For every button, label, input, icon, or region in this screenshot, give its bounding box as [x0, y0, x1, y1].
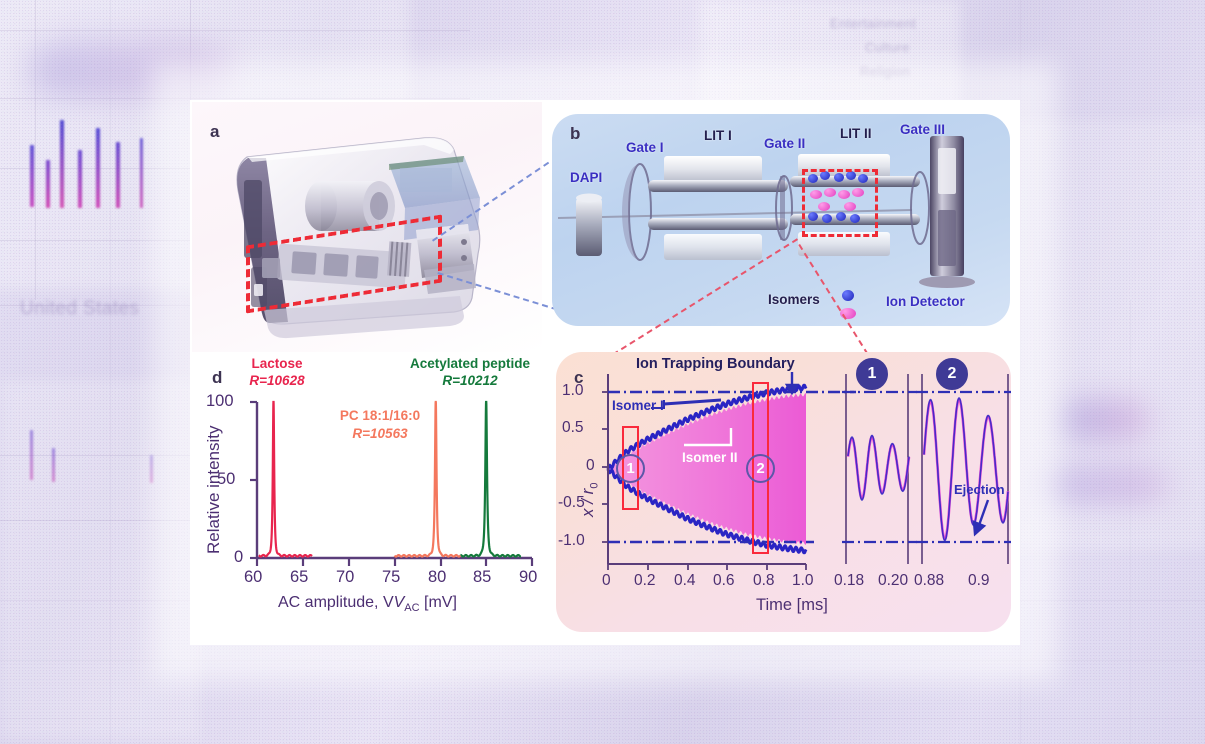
label-isomer-2: Isomer II — [682, 450, 738, 465]
panel-c-inset-1-plot — [842, 352, 917, 632]
panel-c-xtick-5: 1.0 — [792, 572, 814, 590]
panel-d-xlabel-unit: [mV] — [420, 594, 457, 611]
panel-c-xtick-2: 0.4 — [674, 572, 696, 590]
panel-c-ytick-3: 0 — [586, 457, 595, 475]
panel-a-letter: a — [210, 122, 219, 142]
panel-c-xtick-3: 0.6 — [713, 572, 735, 590]
panel-b-letter: b — [570, 124, 580, 144]
label-lit-2: LIT II — [840, 126, 872, 141]
inset-badge-2: 2 — [936, 358, 968, 390]
label-ejection: Ejection — [954, 482, 1005, 497]
panel-d-xtick-85: 85 — [473, 568, 491, 587]
panel-c-xtick-0: 0 — [602, 572, 611, 590]
panel-d-xtick-70: 70 — [336, 568, 354, 587]
panel-d-xlabel-sub: AC — [404, 602, 419, 614]
inset-1-xtick-1: 0.20 — [878, 572, 908, 590]
panel-d-xtick-75: 75 — [382, 568, 400, 587]
panel-d-xtick-65: 65 — [290, 568, 308, 587]
panel-c-ylabel-text: x / r — [578, 489, 597, 517]
panel-b: DAPI Gate I LIT I Gate II LIT II Gate II… — [552, 114, 1010, 326]
inset-2-xtick-1: 0.9 — [968, 572, 990, 590]
plot-marker-1: 1 — [616, 454, 645, 483]
panel-c-letter: c — [574, 368, 583, 388]
panel-d-letter: d — [212, 368, 222, 388]
inset-badge-1: 1 — [856, 358, 888, 390]
label-ion-detector: Ion Detector — [886, 294, 965, 309]
label-lit-1: LIT I — [704, 128, 732, 143]
panel-c-ylabel: x / r0 — [578, 483, 600, 517]
label-isomer-1: Isomer I — [612, 398, 664, 413]
panel-d-ytick-100: 100 — [206, 392, 234, 411]
panel-b-highlight-box — [802, 169, 878, 237]
panel-d-ylabel: Relative intensity — [204, 425, 224, 554]
label-isomers: Isomers — [768, 292, 820, 307]
panel-d-ytick-0: 0 — [234, 548, 243, 567]
panel-c-xlabel: Time [ms] — [756, 596, 828, 615]
label-gate-1: Gate I — [626, 140, 664, 155]
panel-d-xlabel-main: AC amplitude, V — [278, 594, 394, 611]
label-gate-2: Gate II — [764, 136, 805, 151]
panel-c-ytick-2: 0.5 — [562, 419, 584, 437]
panel-d-xlabel-v: V — [394, 594, 405, 611]
panel-c-main-plot — [556, 352, 856, 632]
panel-d-xlabel: AC amplitude, VVAC [mV] — [278, 594, 457, 614]
inset-1-xtick-0: 0.18 — [834, 572, 864, 590]
inset-2-xtick-0: 0.88 — [914, 572, 944, 590]
plot-marker-2: 2 — [746, 454, 775, 483]
panel-a — [192, 102, 542, 352]
panel-c-xtick-4: 0.8 — [753, 572, 775, 590]
panel-d-xtick-60: 60 — [244, 568, 262, 587]
isomer-legend-blue-icon — [842, 290, 854, 301]
panel-c-ylabel-sub: 0 — [588, 483, 600, 489]
panel-c-title: Ion Trapping Boundary — [636, 356, 795, 372]
label-gate-3: Gate III — [900, 122, 945, 137]
panel-d: Lactose R=10628 PC 18:1/16:0 R=10563 Ace… — [200, 356, 545, 626]
panel-d-xtick-90: 90 — [519, 568, 537, 587]
panel-c-ytick-5: -1.0 — [558, 532, 585, 550]
label-dapi: DAPI — [570, 170, 602, 185]
panel-d-xtick-80: 80 — [428, 568, 446, 587]
panel-c-xtick-1: 0.2 — [634, 572, 656, 590]
panel-c: 1 2 1 2 Ion Trapping Boundary Isomer I I… — [556, 352, 1011, 632]
